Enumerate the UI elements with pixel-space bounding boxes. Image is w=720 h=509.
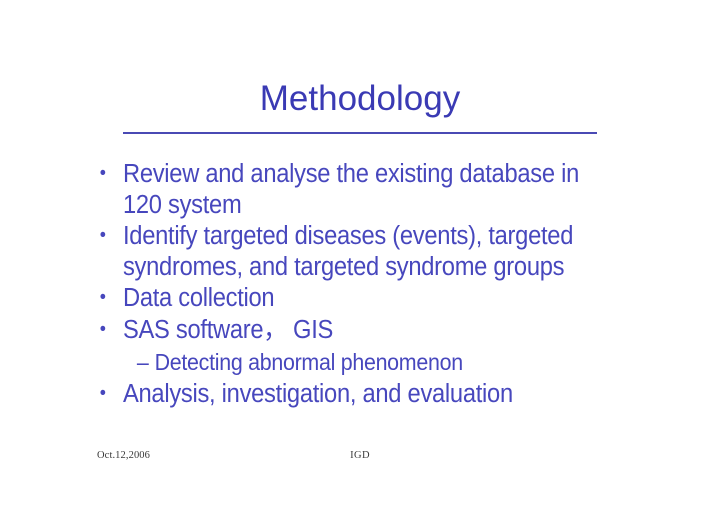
list-item-label: Identify targeted diseases (events), tar… — [123, 221, 580, 282]
presentation-slide: Methodology • Review and analyse the exi… — [0, 0, 720, 509]
list-item-label: Analysis, investigation, and evaluation — [123, 379, 580, 410]
sub-list-item-label: Detecting abnormal phenomenon — [155, 347, 580, 378]
list-item: • Identify targeted diseases (events), t… — [96, 221, 580, 282]
page-title: Methodology — [0, 78, 720, 120]
list-item-label: Data collection — [123, 283, 580, 314]
footer-organization-label: IGD — [0, 450, 720, 461]
list-item-label: Review and analyse the existing database… — [123, 159, 580, 220]
bullet-list: • Review and analyse the existing databa… — [96, 159, 616, 411]
bullet-marker-icon: • — [100, 283, 119, 314]
title-divider — [123, 132, 597, 134]
list-item: • Analysis, investigation, and evaluatio… — [96, 379, 580, 410]
bullet-marker-icon: • — [100, 315, 119, 346]
dash-marker-icon: – — [137, 347, 156, 378]
bullet-marker-icon: • — [100, 221, 119, 252]
list-item-label: SAS software， GIS — [123, 315, 580, 346]
bullet-marker-icon: • — [100, 159, 119, 190]
list-item: • SAS software， GIS — [96, 315, 580, 346]
bullet-marker-icon: • — [100, 379, 119, 410]
list-item: • Data collection — [96, 283, 580, 314]
list-item: • Review and analyse the existing databa… — [96, 159, 580, 220]
sub-list-item: – Detecting abnormal phenomenon — [96, 347, 580, 378]
